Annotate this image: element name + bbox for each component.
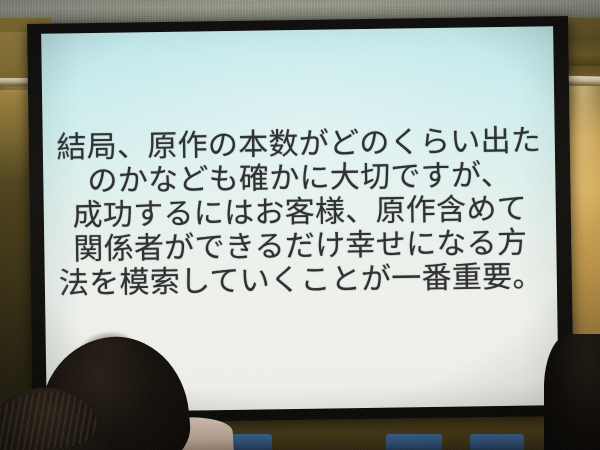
slide-line-5: 法を模索していくことが一番重要。	[45, 260, 557, 302]
chair-back	[470, 434, 524, 450]
chair-back	[386, 434, 442, 450]
audience-figure-right	[544, 334, 600, 450]
presentation-photo-scene: 結局、原作の本数がどのくらい出た のかなども確かに大切ですが、 成功するにはお客…	[0, 0, 600, 450]
slide-body-text: 結局、原作の本数がどのくらい出た のかなども確かに大切ですが、 成功するにはお客…	[43, 124, 557, 302]
